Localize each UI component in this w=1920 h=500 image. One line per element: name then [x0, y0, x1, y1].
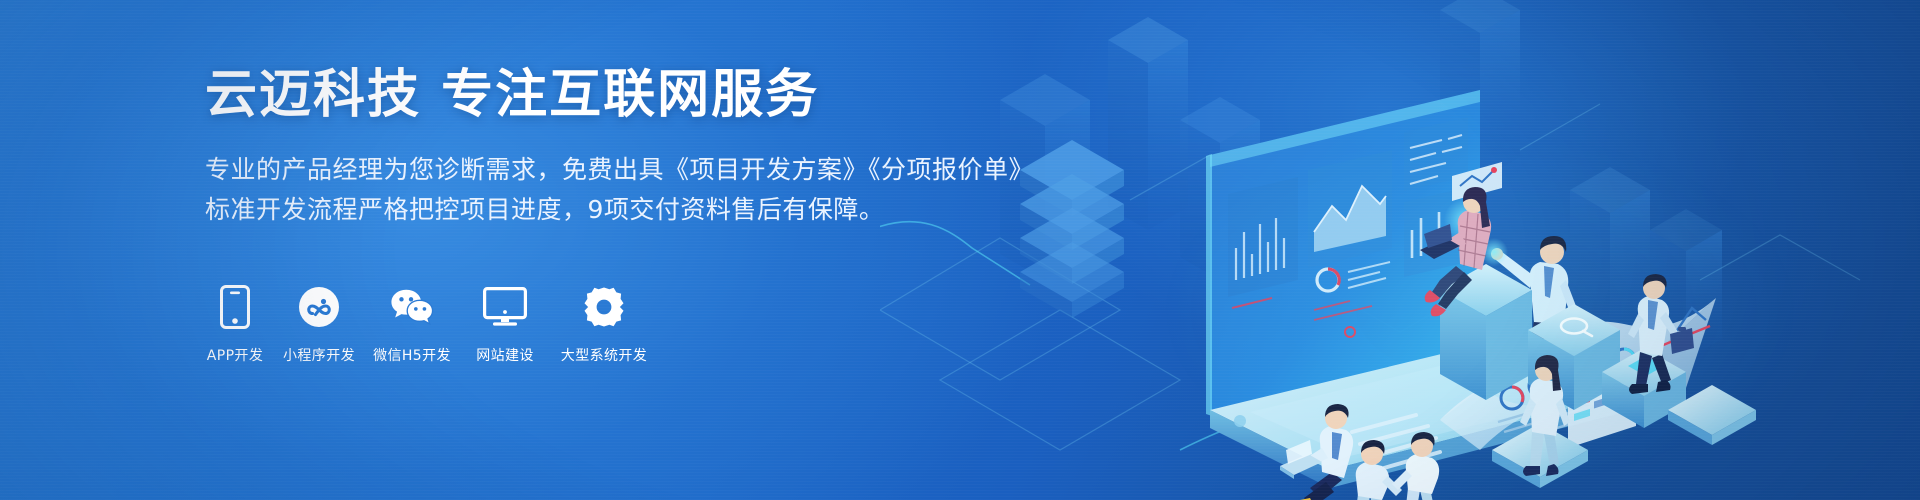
- service-item-miniprogram[interactable]: 小程序开发: [275, 285, 363, 365]
- wechat-icon: [390, 285, 434, 329]
- subtitle-line-1: 专业的产品经理为您诊断需求，免费出具《项目开发方案》《分项报价单》: [205, 150, 1105, 190]
- monitor-icon: [483, 285, 527, 329]
- subtitle-line-2: 标准开发流程严格把控项目进度，9项交付资料售后有保障。: [205, 190, 1105, 230]
- banner-content: 云迈科技 专注互联网服务 专业的产品经理为您诊断需求，免费出具《项目开发方案》《…: [205, 64, 1105, 230]
- service-item-wechat-h5[interactable]: 微信H5开发: [368, 285, 456, 365]
- service-item-app[interactable]: APP开发: [200, 285, 270, 365]
- service-list: APP开发 小程序开发: [200, 285, 659, 365]
- service-label: 网站建设: [476, 345, 534, 365]
- service-item-website[interactable]: 网站建设: [461, 285, 549, 365]
- service-label: 小程序开发: [283, 345, 355, 365]
- page-title: 云迈科技 专注互联网服务: [205, 64, 1105, 126]
- mobile-phone-icon: [213, 285, 257, 329]
- service-item-large-system[interactable]: 大型系统开发: [554, 285, 654, 365]
- service-label: APP开发: [207, 345, 263, 365]
- service-label: 微信H5开发: [373, 345, 451, 365]
- hero-banner: 云迈科技 专注互联网服务 专业的产品经理为您诊断需求，免费出具《项目开发方案》《…: [0, 0, 1920, 500]
- banner-subtitle: 专业的产品经理为您诊断需求，免费出具《项目开发方案》《分项报价单》 标准开发流程…: [205, 150, 1105, 230]
- service-label: 大型系统开发: [561, 345, 647, 365]
- gear-icon: [582, 285, 626, 329]
- mini-program-icon: [297, 285, 341, 329]
